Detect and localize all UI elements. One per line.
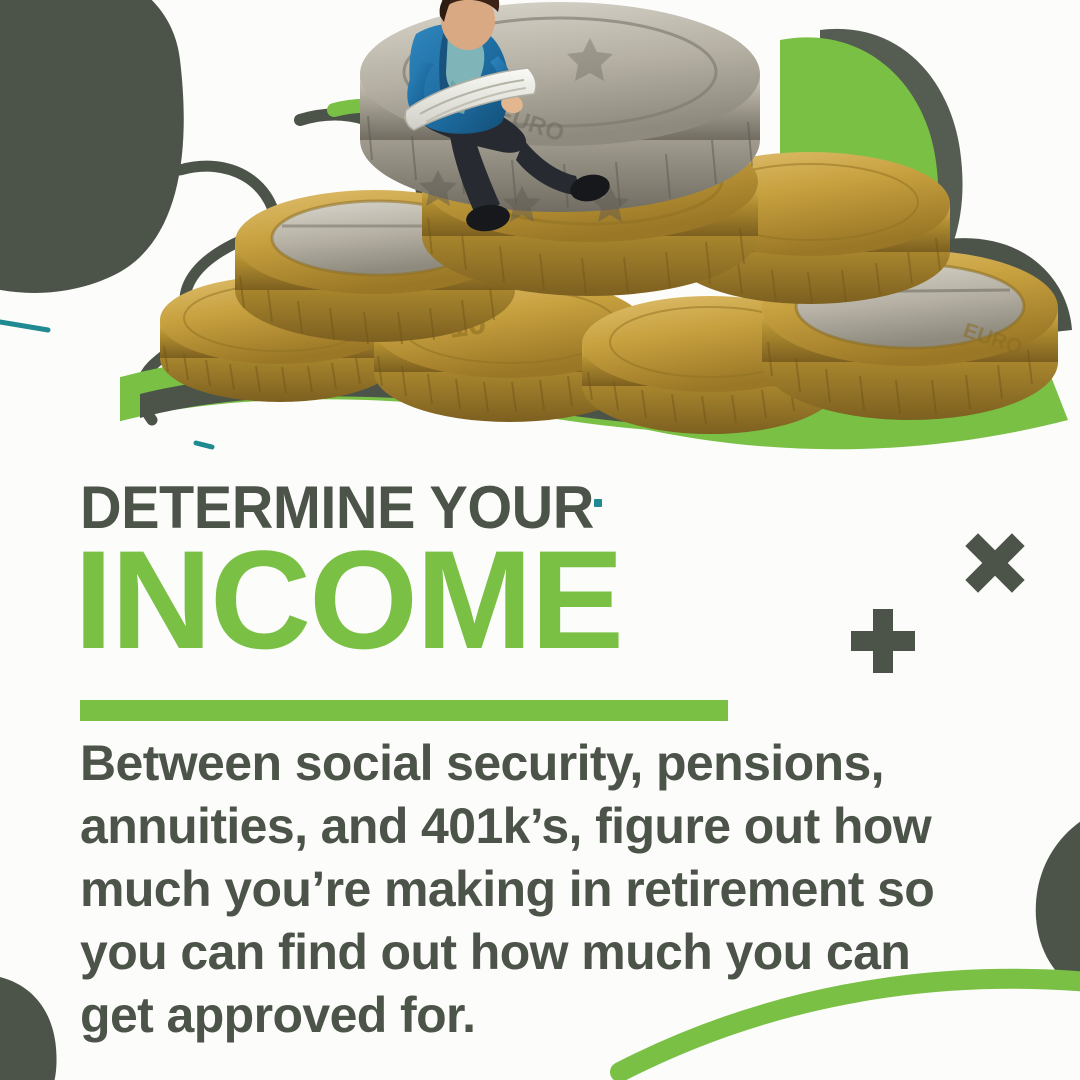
headline-underline-rule xyxy=(80,700,728,721)
coin-stack-illustration: 10 xyxy=(120,0,1080,460)
body-paragraph: Between social security, pensions, annui… xyxy=(80,732,960,1047)
x-icon-shape xyxy=(960,528,1030,598)
plus-icon-shape xyxy=(848,606,918,676)
teal-dot-icon xyxy=(594,499,602,507)
coin-stack-image: 10 xyxy=(120,0,1080,460)
main-headline: INCOME xyxy=(74,530,622,670)
poster-canvas: 10 xyxy=(0,0,1080,1080)
plus-icon xyxy=(848,606,918,676)
teal-dash-shape xyxy=(0,322,48,330)
x-icon xyxy=(960,528,1030,598)
bottom-left-blob-shape xyxy=(0,974,57,1080)
